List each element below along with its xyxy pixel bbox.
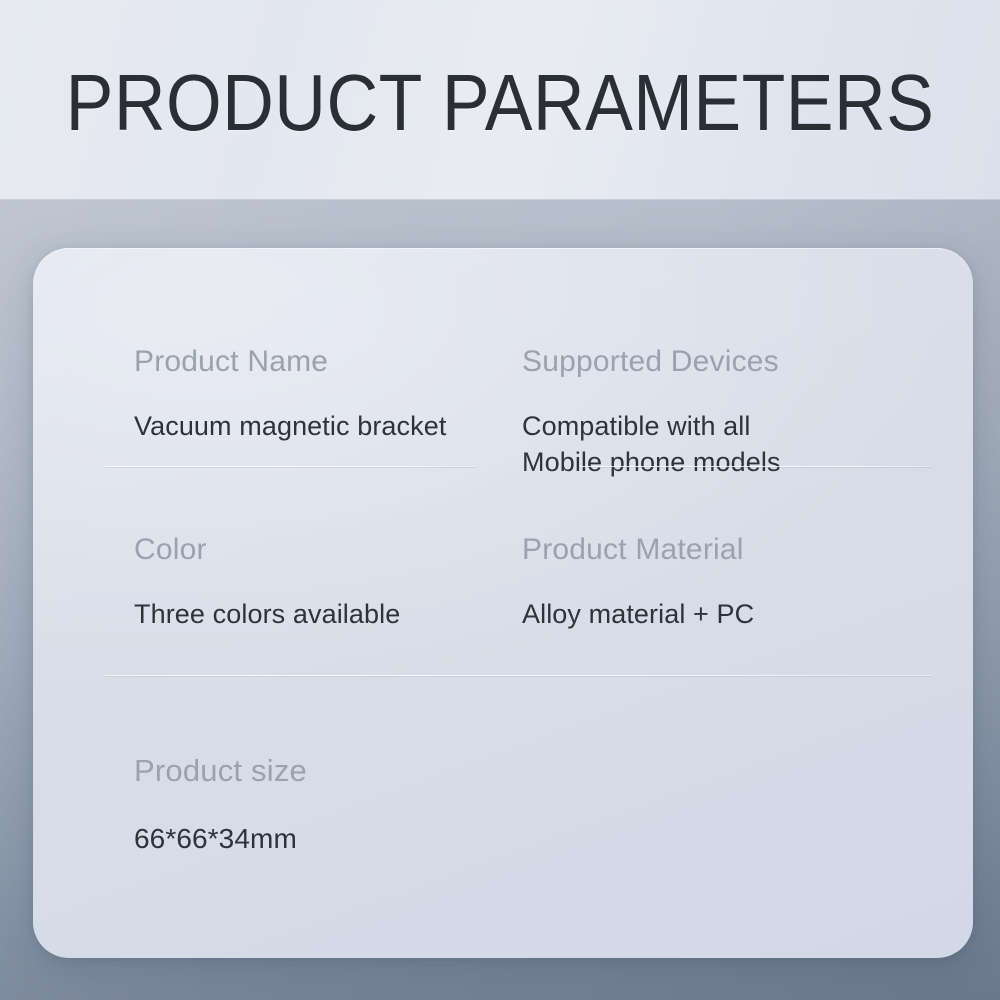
spec-value-line: Vacuum magnetic bracket — [134, 408, 477, 444]
header-band: PRODUCT PARAMETERS — [0, 0, 1000, 200]
spec-cell-product-size: Product size 66*66*34mm — [33, 753, 307, 857]
spec-cell-product-name: Product Name Vacuum magnetic bracket — [33, 344, 477, 480]
row-divider-right — [580, 466, 932, 467]
spec-row: Product Name Vacuum magnetic bracket Sup… — [33, 344, 973, 480]
row-divider-left — [105, 466, 477, 467]
parameters-card-inner: Product Name Vacuum magnetic bracket Sup… — [33, 248, 973, 958]
spec-value: Three colors available — [134, 596, 477, 632]
parameters-card: Product Name Vacuum magnetic bracket Sup… — [33, 248, 973, 958]
row-divider-full — [105, 675, 933, 676]
spec-label: Color — [134, 532, 477, 568]
spec-value-line: Alloy material + PC — [522, 596, 973, 632]
spec-row: Color Three colors available Product Mat… — [33, 532, 973, 632]
spec-cell-supported-devices: Supported Devices Compatible with all Mo… — [477, 344, 973, 480]
spec-cell-product-material: Product Material Alloy material + PC — [477, 532, 973, 632]
spec-value: Vacuum magnetic bracket — [134, 408, 477, 444]
spec-label: Supported Devices — [522, 344, 973, 380]
spec-value: Alloy material + PC — [522, 596, 973, 632]
spec-value-line: 66*66*34mm — [134, 821, 307, 857]
spec-value: 66*66*34mm — [134, 821, 307, 857]
spec-label: Product size — [134, 753, 307, 789]
spec-cell-color: Color Three colors available — [33, 532, 477, 632]
spec-value-line: Compatible with all — [522, 408, 973, 444]
page-title: PRODUCT PARAMETERS — [53, 58, 948, 148]
product-parameters-page: PRODUCT PARAMETERS Product Name Vacuum m… — [0, 0, 1000, 1000]
spec-value: Compatible with all Mobile phone models — [522, 408, 973, 480]
spec-value-line: Three colors available — [134, 596, 477, 632]
spec-label: Product Name — [134, 344, 477, 380]
spec-label: Product Material — [522, 532, 973, 568]
spec-value-line: Mobile phone models — [522, 444, 973, 480]
